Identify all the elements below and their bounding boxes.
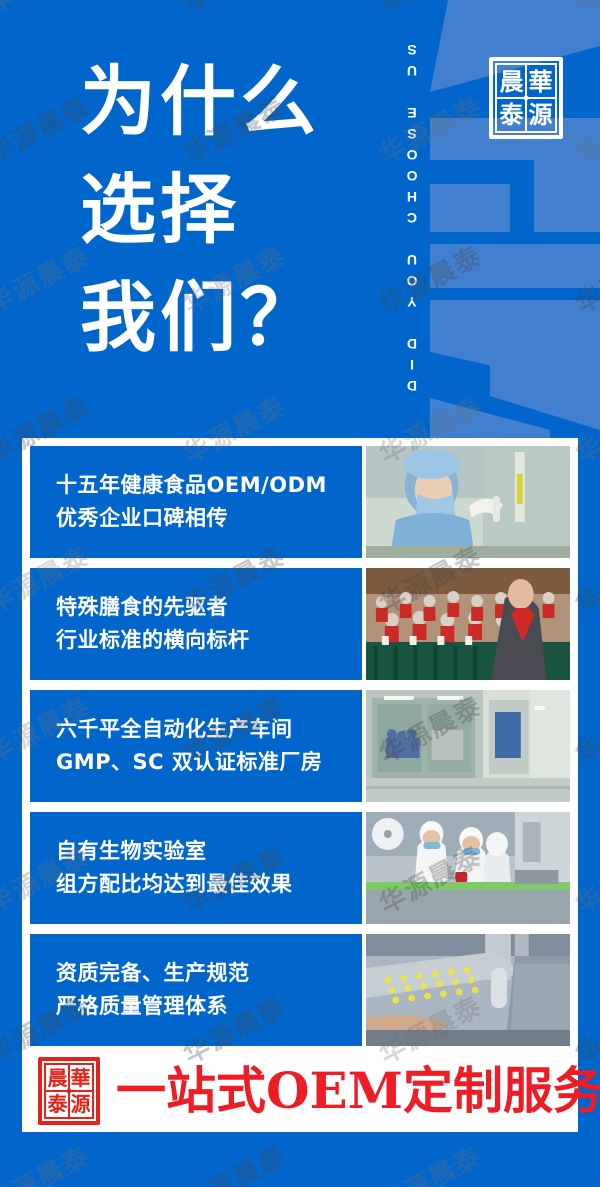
header: 为什么 选择 我们？ DID YOU CHOOSE US 晨 華 泰 源	[0, 0, 600, 438]
feature-line-1: 特殊膳食的先驱者	[56, 591, 362, 624]
feature-list: 十五年健康食品OEM/ODM 优秀企业口碑相传	[30, 446, 570, 1046]
feature-line-2: 优秀企业口碑相传	[56, 502, 362, 535]
title-line-3: 我们？	[80, 264, 400, 372]
seal-char-3: 泰	[46, 1091, 69, 1117]
watermark-text: 华源晨泰	[0, 1136, 96, 1187]
feature-line-1: 自有生物实验室	[56, 835, 362, 868]
feature-text-panel: 六千平全自动化生产车间 GMP、SC 双认证标准厂房	[30, 690, 362, 802]
feature-line-2: 组方配比均达到最佳效果	[56, 868, 362, 901]
feature-text-panel: 特殊膳食的先驱者 行业标准的横向标杆	[30, 568, 362, 680]
seal-char-2: 華	[69, 1065, 92, 1091]
feature-line-1: 十五年健康食品OEM/ODM	[56, 469, 362, 502]
feature-text-panel: 十五年健康食品OEM/ODM 优秀企业口碑相传	[30, 446, 362, 558]
feature-row: 特殊膳食的先驱者 行业标准的横向标杆	[30, 568, 570, 680]
header-seal-icon: 晨 華 泰 源	[489, 57, 563, 139]
feature-row: 六千平全自动化生产车间 GMP、SC 双认证标准厂房	[30, 690, 570, 802]
watermark-text: 华源晨泰	[568, 1136, 600, 1187]
feature-line-1: 资质完备、生产规范	[56, 957, 362, 990]
feature-row: 十五年健康食品OEM/ODM 优秀企业口碑相传	[30, 446, 570, 558]
feature-row: 自有生物实验室 组方配比均达到最佳效果	[30, 812, 570, 924]
seal-char-4: 源	[69, 1091, 92, 1117]
vertical-tagline: DID YOU CHOOSE US	[404, 16, 430, 394]
feature-text-panel: 自有生物实验室 组方配比均达到最佳效果	[30, 812, 362, 924]
feature-text-panel: 资质完备、生产规范 严格质量管理体系	[30, 934, 362, 1046]
feature-line-1: 六千平全自动化生产车间	[56, 713, 362, 746]
seal-center-dot	[67, 1089, 72, 1094]
feature-line-2: 行业标准的横向标杆	[56, 624, 362, 657]
seal-char-3: 泰	[497, 98, 526, 131]
feature-photo-lab-technician	[366, 446, 570, 558]
feature-line-2: GMP、SC 双认证标准厂房	[56, 746, 362, 779]
feature-line-2: 严格质量管理体系	[56, 990, 362, 1023]
seal-char-1: 晨	[46, 1065, 69, 1091]
page-title: 为什么 选择 我们？	[80, 48, 400, 372]
seal-char-2: 華	[526, 65, 555, 98]
seal-center-dot	[524, 96, 529, 101]
watermark-text: 华源晨泰	[372, 1136, 488, 1187]
seal-char-1: 晨	[497, 65, 526, 98]
feature-photo-conference	[366, 568, 570, 680]
title-line-1: 为什么	[80, 48, 400, 156]
poster-root: 为什么 选择 我们？ DID YOU CHOOSE US 晨 華 泰 源 十五年…	[0, 0, 600, 1187]
watermark-text: 华源晨泰	[176, 1136, 292, 1187]
feature-row: 资质完备、生产规范 严格质量管理体系	[30, 934, 570, 1046]
title-line-2: 选择	[80, 156, 400, 264]
feature-photo-cleanroom	[366, 690, 570, 802]
feature-photo-blister-packaging	[366, 934, 570, 1046]
banner-seal-icon: 晨 華 泰 源	[38, 1057, 100, 1125]
bottom-banner: 晨 華 泰 源 一站式OEM定制服务	[22, 1050, 578, 1132]
seal-char-4: 源	[526, 98, 555, 131]
feature-photo-production-line	[366, 812, 570, 924]
banner-slogan: 一站式OEM定制服务	[116, 1063, 600, 1119]
